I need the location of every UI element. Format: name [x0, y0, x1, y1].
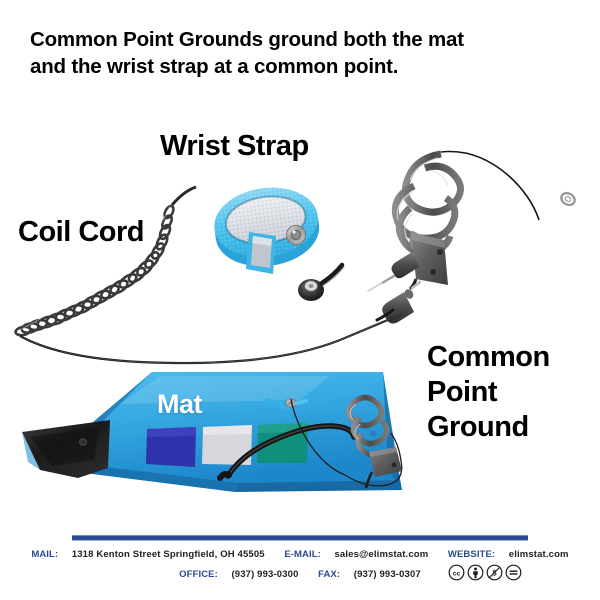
- footer-fax-value: (937) 993-0307: [354, 569, 421, 580]
- cc-by-icon: [467, 564, 484, 581]
- wrist-strap-stud: [287, 226, 306, 245]
- footer-mail-value: 1318 Kenton Street Springfield, OH 45505: [72, 549, 265, 560]
- footer-fax-key: FAX:: [318, 569, 340, 580]
- footer-mail-key: MAIL:: [31, 549, 58, 560]
- common-point-ground-unit: [368, 152, 577, 324]
- footer-email-value[interactable]: sales@elimstat.com: [335, 549, 429, 560]
- footer-office-value: (937) 993-0300: [231, 569, 298, 580]
- wrist-strap-buckle: [246, 232, 276, 274]
- label-mat: Mat: [157, 389, 202, 420]
- footer-office-key: OFFICE:: [179, 569, 218, 580]
- svg-text:cc: cc: [453, 570, 461, 577]
- footer-website-value[interactable]: elimstat.com: [509, 549, 569, 560]
- footer-website-key: WEBSITE:: [448, 549, 495, 560]
- mat-folded-corner: [22, 420, 110, 478]
- footer-email-key: E-MAIL:: [284, 549, 321, 560]
- label-coil-cord: Coil Cord: [18, 216, 144, 249]
- cc-nd-icon: [505, 564, 522, 581]
- label-wrist-strap: Wrist Strap: [160, 130, 309, 163]
- esd-mat: [22, 372, 402, 492]
- color-swatch-blue: [146, 427, 196, 467]
- cc-nc-icon: $: [486, 564, 503, 581]
- cc-icon: cc: [448, 564, 465, 581]
- wrist-strap-snap: [298, 265, 344, 301]
- infographic-page: Common Point Grounds ground both the mat…: [0, 0, 600, 600]
- creative-commons-license-icons: cc $: [448, 564, 522, 581]
- coil-cord-plug: [377, 282, 420, 324]
- coil-cord: [15, 187, 402, 363]
- diagram-illustration: [0, 0, 600, 600]
- footer-divider: [72, 535, 528, 541]
- label-common-point-ground: Common Point Ground: [427, 340, 577, 445]
- wrist-strap-band: [210, 181, 344, 301]
- footer-contact-line-1: MAIL: 1318 Kenton Street Springfield, OH…: [0, 549, 600, 560]
